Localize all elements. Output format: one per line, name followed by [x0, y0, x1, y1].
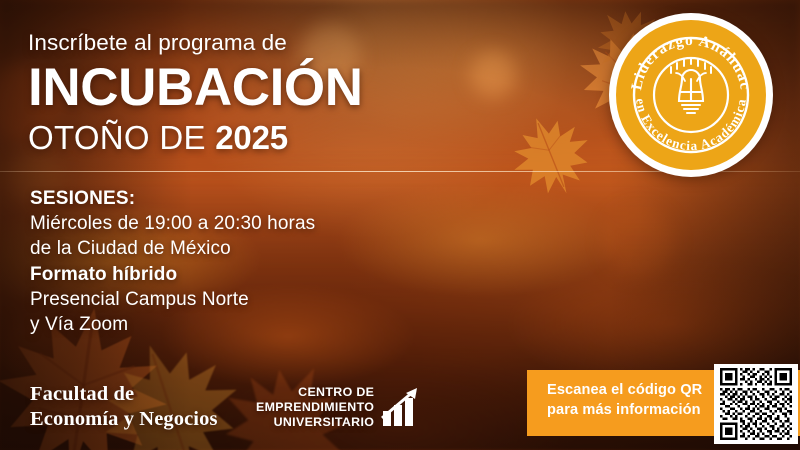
sessions-heading: SESIONES: [30, 186, 360, 211]
qr-code-icon [720, 368, 792, 440]
qr-cta-text: Escanea el código QR para más informació… [547, 381, 717, 420]
page-title: INCUBACIÓN [28, 60, 498, 115]
headline-block: Inscríbete al programa de INCUBACIÓN OTO… [28, 32, 498, 154]
promo-poster: Inscríbete al programa de INCUBACIÓN OTO… [0, 0, 800, 450]
ceu-line-1: CENTRO DE [256, 385, 374, 400]
ceu-logo: CENTRO DE EMPRENDIMIENTO UNIVERSITARIO [256, 385, 421, 430]
sessions-schedule-line: Miércoles de 19:00 a 20:30 horas [30, 211, 360, 236]
faculty-logo: Facultad de Economía y Negocios [30, 382, 218, 432]
headline-kicker: Inscríbete al programa de [28, 32, 498, 55]
sessions-format-heading: Formato híbrido [30, 262, 360, 287]
subtitle-light-text: OTOÑO DE [28, 119, 215, 156]
growth-bars-arrow-icon [381, 387, 421, 427]
headline-subtitle: OTOÑO DE 2025 [28, 121, 498, 154]
qr-cta-line-2: para más información [547, 401, 717, 421]
qr-code-panel[interactable] [714, 364, 798, 444]
ceu-line-3: UNIVERSITARIO [256, 415, 374, 430]
subtitle-year: 2025 [215, 119, 288, 156]
sessions-online-line: y Vía Zoom [30, 312, 360, 337]
ceu-line-2: EMPRENDIMIENTO [256, 400, 374, 415]
sessions-timezone-line: de la Ciudad de México [30, 236, 360, 261]
excellence-badge: Liderazgo Anáhuac en Excelencia Académic… [609, 13, 773, 177]
faculty-line-1: Facultad de [30, 382, 218, 407]
sessions-block: SESIONES: Miércoles de 19:00 a 20:30 hor… [30, 186, 360, 337]
faculty-line-2: Economía y Negocios [30, 407, 218, 432]
qr-cta-line-1: Escanea el código QR [547, 381, 717, 401]
sessions-campus-line: Presencial Campus Norte [30, 287, 360, 312]
ceu-logo-text: CENTRO DE EMPRENDIMIENTO UNIVERSITARIO [256, 385, 374, 430]
lightbulb-icon [671, 58, 711, 113]
